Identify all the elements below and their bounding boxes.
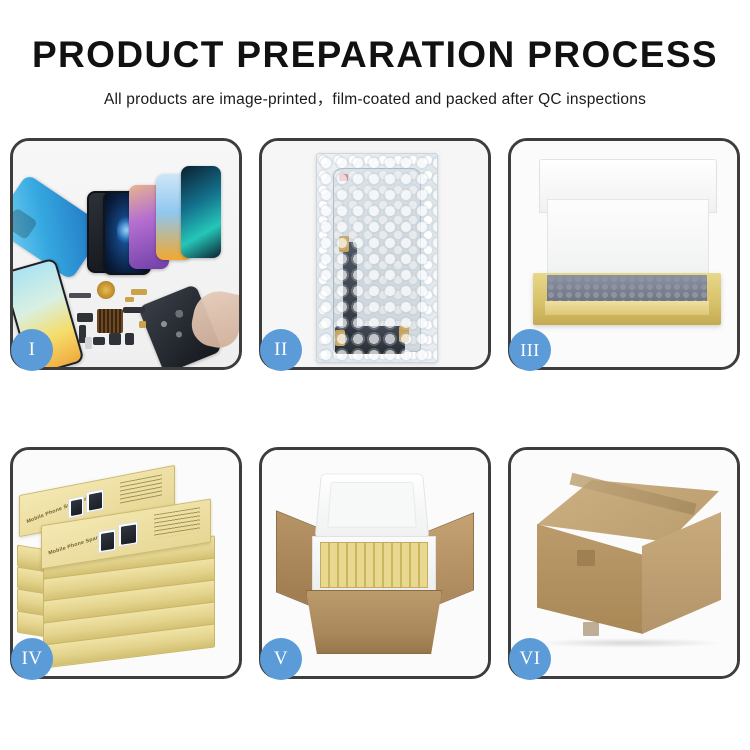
- step-2-image: [262, 141, 488, 367]
- screw-part: [139, 321, 146, 328]
- step-5-image: [262, 450, 488, 676]
- flex-cable-part: [77, 313, 93, 322]
- process-step-1: I: [10, 138, 242, 370]
- sensor-flex-part: [123, 307, 145, 313]
- lid-screen-image-1a: [68, 496, 84, 519]
- screen-connector-board: [335, 326, 405, 354]
- white-foam-sheet: [547, 199, 709, 279]
- lid-screen-image-1b: [86, 489, 104, 513]
- step-1-image: [13, 141, 239, 367]
- vibrator-part: [109, 333, 121, 345]
- carton-front-wall: [306, 590, 442, 654]
- lid-screen-image-2a: [98, 529, 116, 554]
- bubble-wrap-bag: [316, 153, 438, 363]
- page-subtitle: All products are image-printed，film-coat…: [0, 87, 750, 109]
- lid-spec-text-2: [154, 507, 200, 538]
- step-badge-4: IV: [11, 638, 53, 680]
- process-step-6: VI: [508, 447, 740, 679]
- step-badge-2: II: [260, 329, 302, 371]
- foam-lid-open: [315, 473, 430, 538]
- process-step-2: II: [259, 138, 491, 370]
- step-badge-6: VI: [509, 638, 551, 680]
- screen-flex-cable: [343, 242, 357, 338]
- carton-ground-shadow: [535, 638, 723, 648]
- carton-handle-tab-bottom: [583, 622, 599, 636]
- tray-front-wall: [545, 301, 709, 315]
- step-badge-5: V: [260, 638, 302, 680]
- antenna-strip-part: [69, 293, 91, 298]
- step-6-image: [511, 450, 737, 676]
- lid-screen-image-2b: [118, 521, 138, 547]
- tape-strip-left: [335, 330, 345, 346]
- process-step-grid: I II III: [10, 138, 740, 679]
- page-title: PRODUCT PREPARATION PROCESS: [0, 36, 750, 75]
- carton-front-face: [537, 524, 643, 634]
- tape-strip-top: [339, 236, 349, 252]
- step-4-image: Mobile Phone Spare Parts Mobile Phone Sp…: [13, 450, 239, 676]
- teal-wave-phone: [181, 166, 221, 258]
- speaker-coil-part: [97, 281, 115, 299]
- lid-spec-text-1: [120, 474, 162, 504]
- step-badge-3: III: [509, 329, 551, 371]
- page-header: PRODUCT PREPARATION PROCESS All products…: [0, 0, 750, 109]
- sim-tray-part: [125, 333, 134, 345]
- process-step-4: Mobile Phone Spare Parts Mobile Phone Sp…: [10, 447, 242, 679]
- tape-strip-right: [399, 326, 409, 342]
- logic-board-chip: [97, 309, 123, 333]
- process-step-3: III: [508, 138, 740, 370]
- red-label-sticker: [339, 174, 348, 181]
- process-step-5: V: [259, 447, 491, 679]
- step-3-image: [511, 141, 737, 367]
- carton-handle-tab-top: [577, 550, 595, 566]
- sim-pin-part: [85, 337, 92, 349]
- camera-module-part: [93, 337, 105, 345]
- gold-connector-part: [125, 297, 134, 302]
- step-badge-1: I: [11, 329, 53, 371]
- yellow-boxes-inside: [320, 542, 428, 588]
- gold-flex-part: [131, 289, 147, 295]
